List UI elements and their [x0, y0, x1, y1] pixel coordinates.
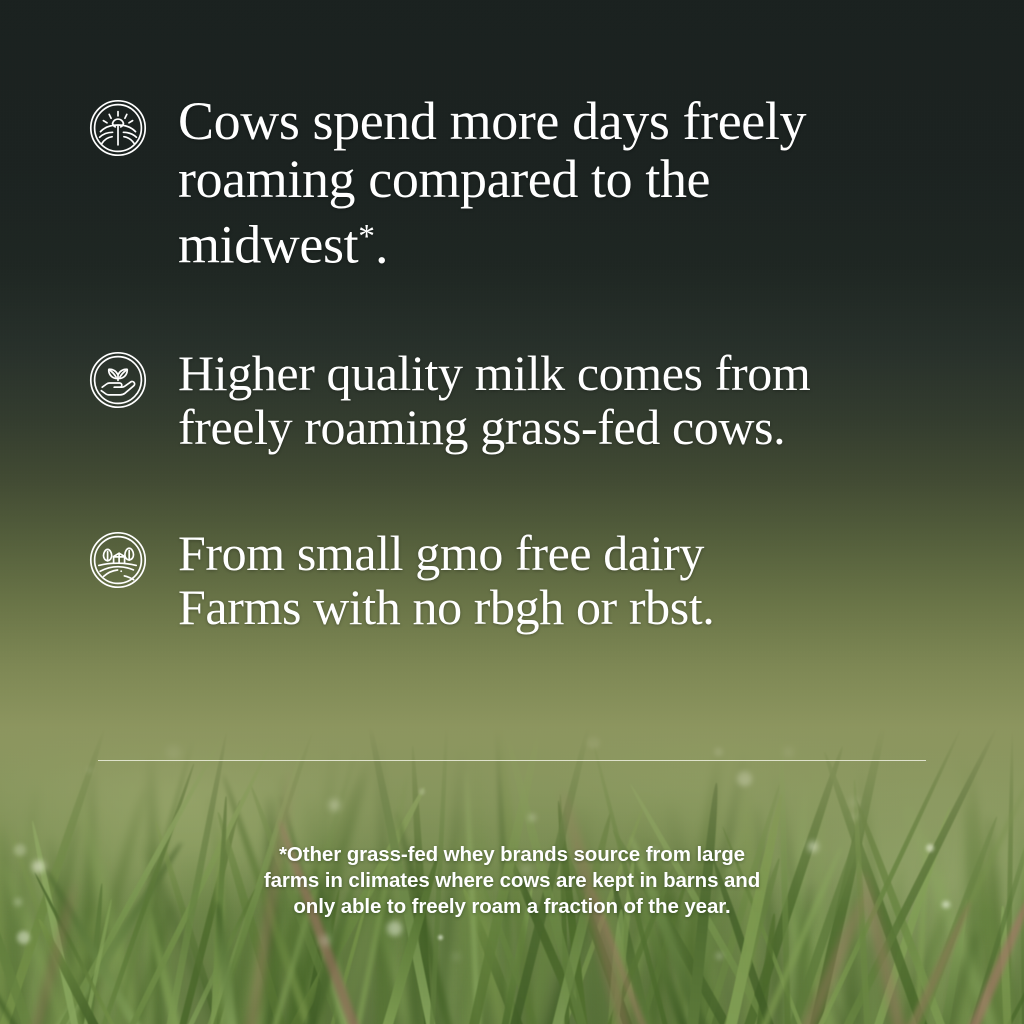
- benefit-terminator: .: [375, 214, 388, 274]
- footnote-line-3: only able to freely roam a fraction of t…: [162, 894, 862, 920]
- benefit-item-roaming: Cows spend more days freely roaming comp…: [88, 98, 968, 273]
- benefit-line-2: roaming compared to the: [178, 149, 710, 209]
- farm-barn-fields-icon: [88, 530, 148, 590]
- content-layer: Cows spend more days freely roaming comp…: [0, 0, 1024, 1024]
- benefit-line-3: midwest: [178, 214, 358, 274]
- sun-over-fields-icon: [88, 98, 148, 158]
- footnote-line-1: *Other grass-fed whey brands source from…: [162, 842, 862, 868]
- footnote-marker: *: [358, 218, 375, 255]
- benefit-headline: Higher quality milk comes from freely ro…: [178, 346, 988, 454]
- benefit-line-2: Farms with no rbgh or rbst.: [178, 579, 714, 635]
- benefit-line-1: From small gmo free dairy: [178, 525, 704, 581]
- footnote-line-2: farms in climates where cows are kept in…: [162, 868, 862, 894]
- benefit-item-farms: From small gmo free dairy Farms with no …: [88, 530, 988, 634]
- benefit-item-quality: Higher quality milk comes from freely ro…: [88, 350, 988, 454]
- footnote-disclaimer: *Other grass-fed whey brands source from…: [162, 842, 862, 920]
- benefit-line-2: freely roaming grass-fed cows.: [178, 399, 785, 455]
- benefit-headline: Cows spend more days freely roaming comp…: [178, 92, 918, 273]
- promo-graphic: Cows spend more days freely roaming comp…: [0, 0, 1024, 1024]
- benefit-line-1: Higher quality milk comes from: [178, 345, 810, 401]
- benefit-line-1: Cows spend more days freely: [178, 91, 806, 151]
- benefit-headline: From small gmo free dairy Farms with no …: [178, 526, 978, 634]
- hand-holding-sprout-icon: [88, 350, 148, 410]
- divider-rule: [98, 760, 926, 761]
